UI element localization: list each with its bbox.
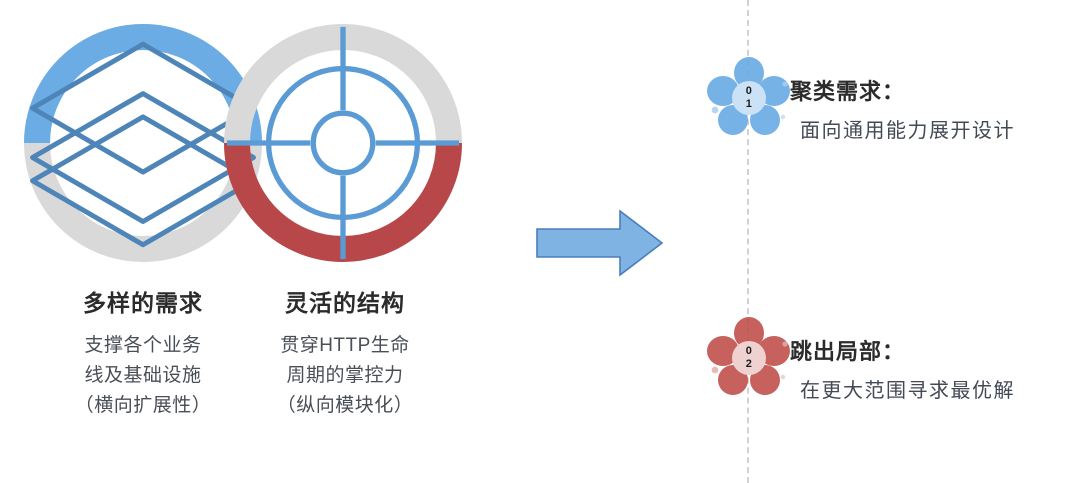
caption-body: 支撑各个业务 线及基础设施 （横向扩展性） — [48, 331, 238, 421]
caption-line: 周期的掌控力 — [250, 361, 440, 391]
badge-number-bottom: 1 — [746, 98, 753, 111]
badge-number: 0 1 — [706, 55, 792, 141]
flower-badge-icon: 0 1 — [706, 55, 792, 141]
caption-diverse-requirements: 多样的需求 支撑各个业务 线及基础设施 （横向扩展性） — [48, 288, 238, 421]
caption-line: 线及基础设施 — [48, 361, 238, 391]
right-arrow — [535, 208, 665, 278]
point-title: 聚类需求： — [790, 74, 905, 106]
badge-number-top: 0 — [746, 345, 753, 358]
caption-line: （横向扩展性） — [48, 391, 238, 421]
badge-number: 0 2 — [706, 315, 792, 401]
caption-line: 支撑各个业务 — [48, 331, 238, 361]
infographic-canvas: 多样的需求 支撑各个业务 线及基础设施 （横向扩展性） 灵活的结构 贯穿HTTP… — [0, 0, 1080, 483]
point-body: 在更大范围寻求最优解 — [800, 374, 1015, 403]
caption-line: 贯穿HTTP生命 — [250, 331, 440, 361]
flower-badge-icon: 0 2 — [706, 315, 792, 401]
caption-flexible-structure: 灵活的结构 贯穿HTTP生命 周期的掌控力 （纵向模块化） — [250, 288, 440, 421]
caption-title: 灵活的结构 — [250, 288, 440, 318]
rings-group — [0, 0, 510, 290]
crosshair-target-icon — [218, 18, 468, 268]
badge-number-bottom: 2 — [746, 358, 753, 371]
caption-line: （纵向模块化） — [250, 391, 440, 421]
point-title: 跳出局部： — [790, 334, 905, 366]
caption-title: 多样的需求 — [48, 288, 238, 318]
flexible-structure-ring — [218, 18, 468, 268]
badge-number-top: 0 — [746, 85, 753, 98]
point-body: 面向通用能力展开设计 — [800, 114, 1015, 143]
caption-body: 贯穿HTTP生命 周期的掌控力 （纵向模块化） — [250, 331, 440, 421]
